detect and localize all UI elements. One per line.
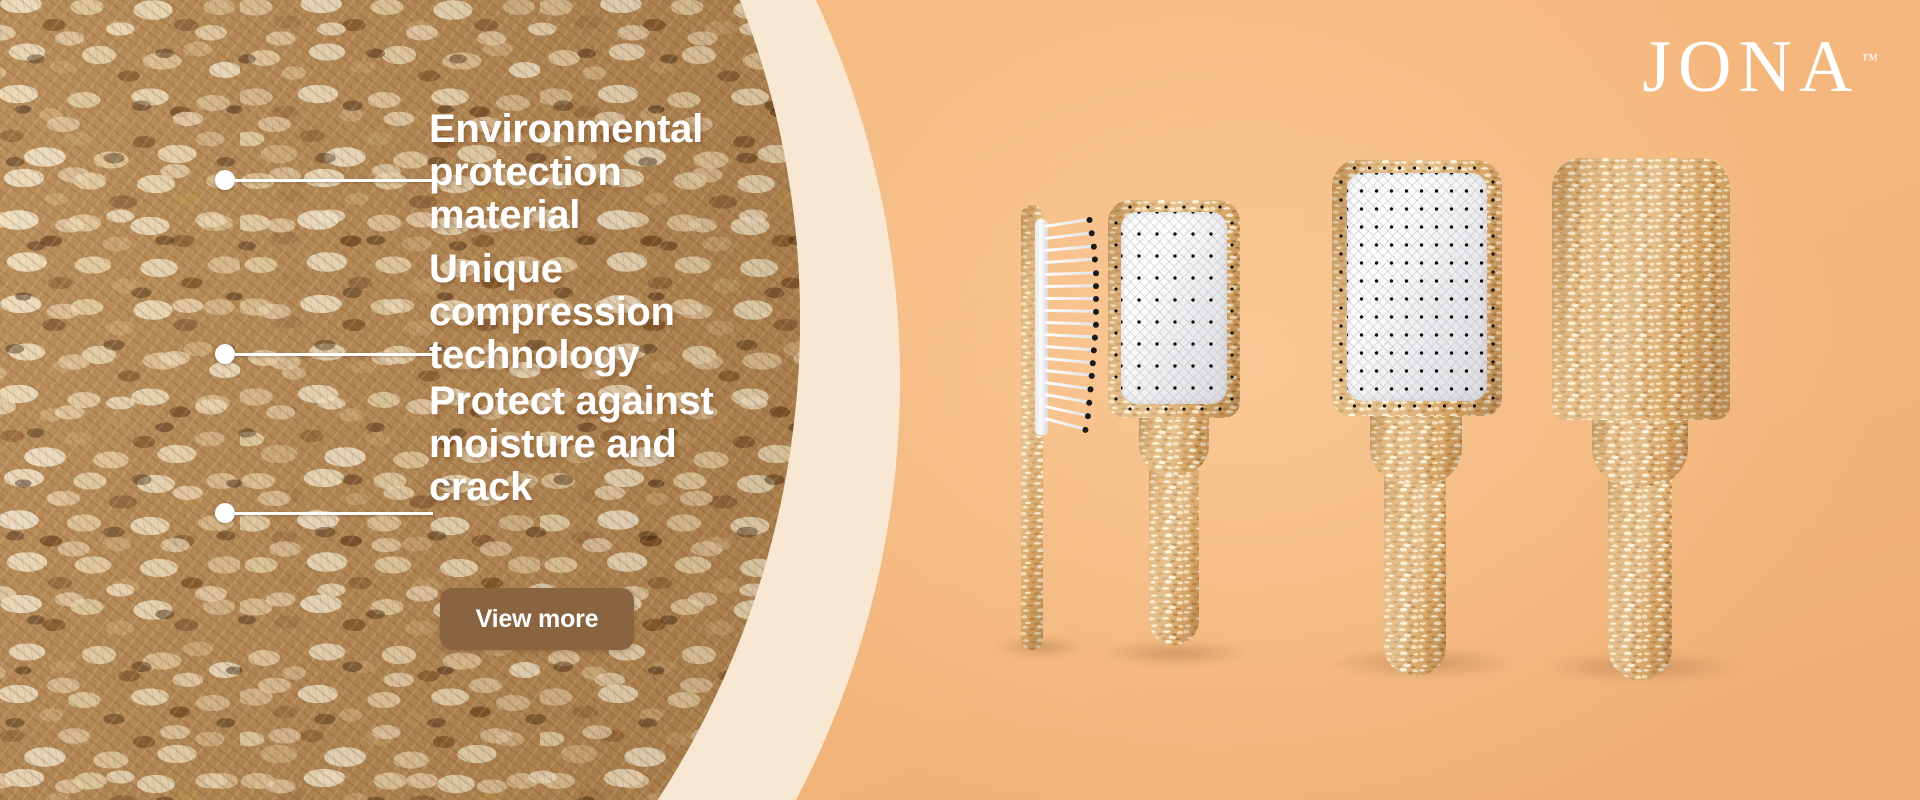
- brush-cushion: [1347, 173, 1487, 401]
- brush-rim-bristles: [1121, 406, 1227, 412]
- paddle-brush-side-view: [1005, 205, 1061, 650]
- brush-bristle-tips: [1347, 173, 1487, 401]
- brush-head-shading: [1552, 158, 1730, 420]
- brush-rim-bristles: [1338, 173, 1344, 401]
- brush-rim-bristles: [1347, 403, 1487, 409]
- brush-rim-bristles: [1490, 173, 1496, 401]
- brush-bristle-tips: [1121, 212, 1227, 404]
- paddle-brush-large-front: [1332, 160, 1502, 660]
- paddle-brush-back: [1552, 158, 1730, 658]
- product-image-group: [0, 0, 1920, 800]
- brush-rim-bristles: [1347, 165, 1487, 171]
- brush-rim-bristles: [1229, 212, 1235, 404]
- brush-head: [1552, 158, 1730, 420]
- brush-cushion: [1121, 212, 1227, 404]
- promo-banner: Environmental protection material Unique…: [0, 0, 1920, 800]
- brush-rim-bristles: [1121, 204, 1227, 210]
- brush-cushion: [1035, 220, 1048, 435]
- brush-rim-bristles: [1113, 212, 1119, 404]
- paddle-brush-small-front: [1108, 200, 1240, 650]
